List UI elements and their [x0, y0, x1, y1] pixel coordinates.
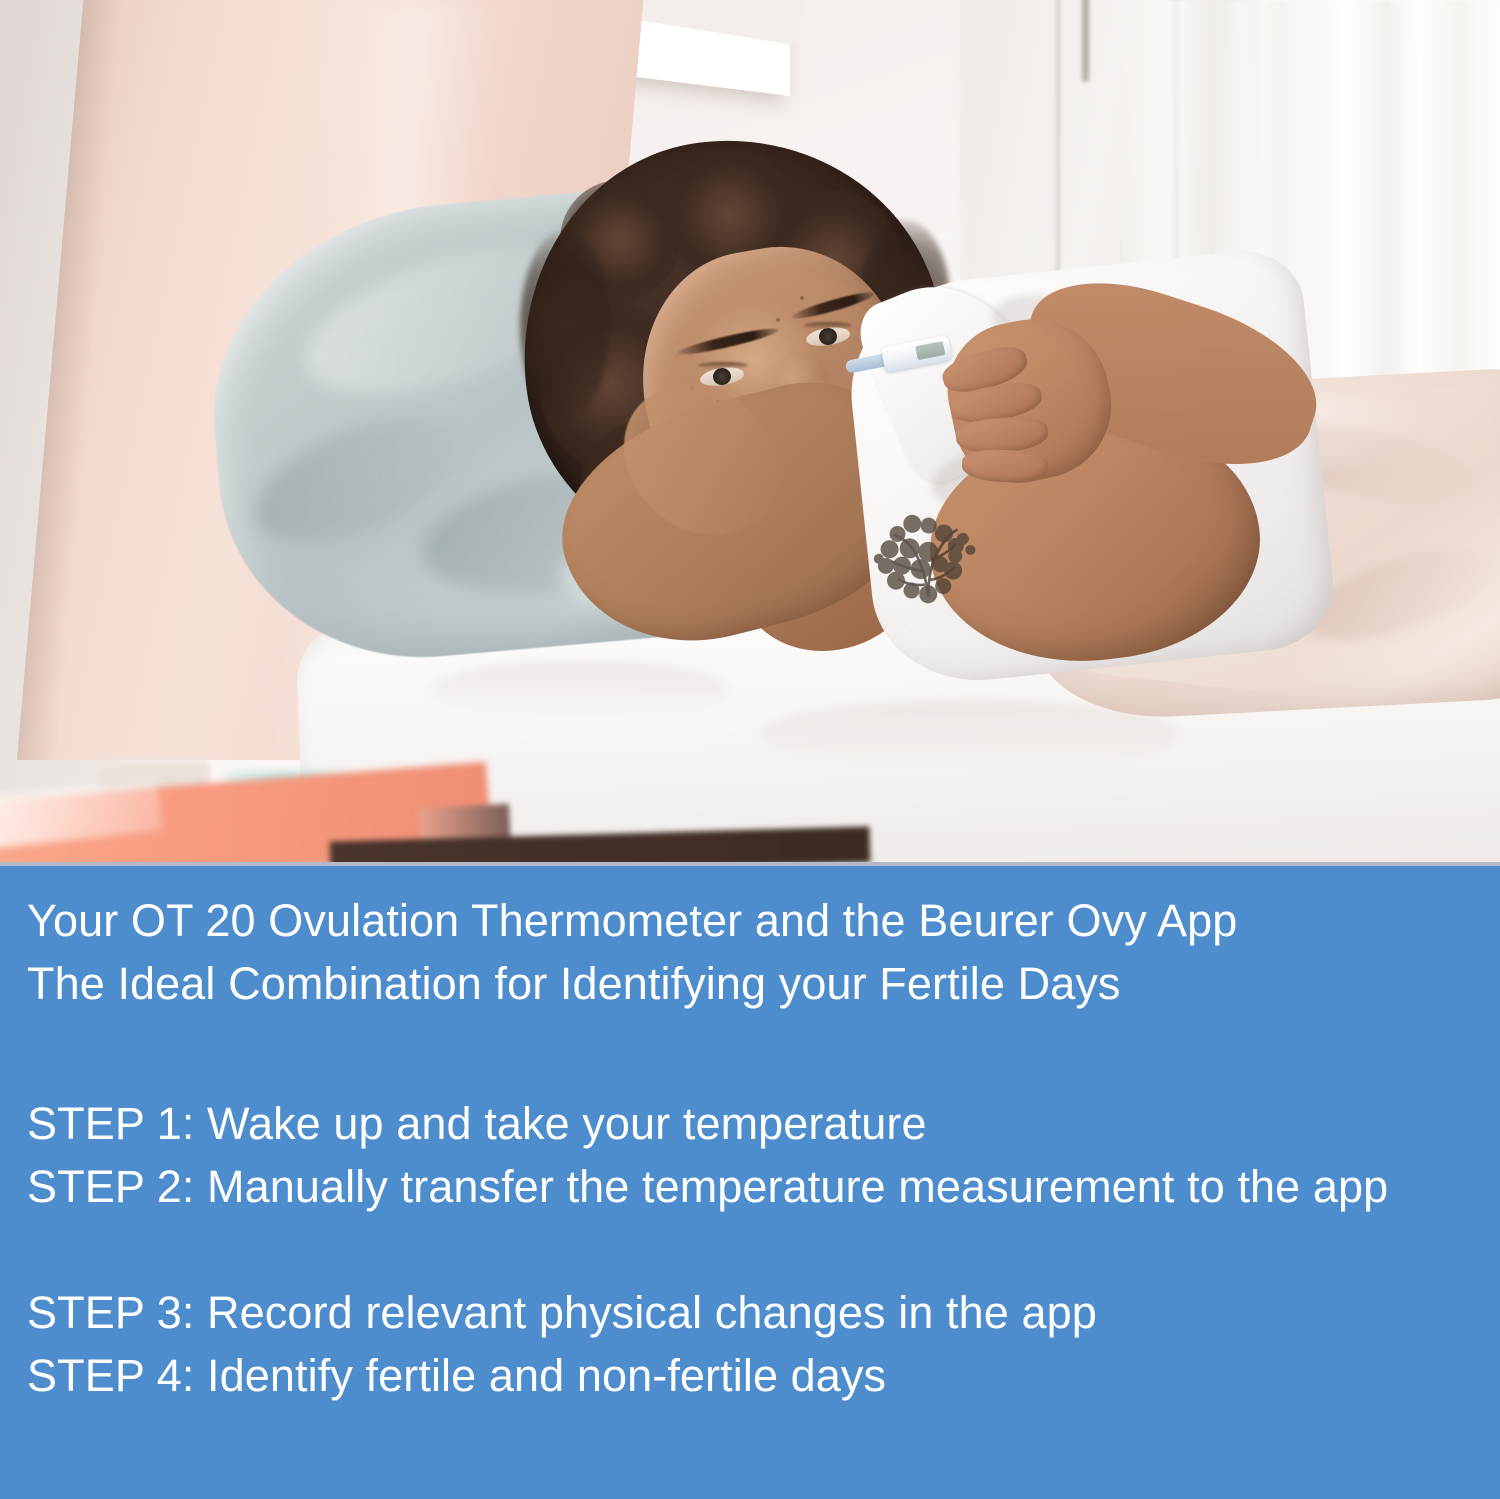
tree-tattoo — [854, 491, 1003, 636]
caption-title-line-2: The Ideal Combination for Identifying yo… — [27, 961, 1121, 1006]
caption-step-1: STEP 1: Wake up and take your temperatur… — [27, 1101, 927, 1146]
caption-step-2: STEP 2: Manually transfer the temperatur… — [27, 1164, 1467, 1209]
caption-step-3: STEP 3: Record relevant physical changes… — [27, 1290, 1097, 1335]
caption-title-line-1: Your OT 20 Ovulation Thermometer and the… — [27, 898, 1237, 943]
product-marketing-image: Your OT 20 Ovulation Thermometer and the… — [0, 0, 1500, 1499]
bedroom-photo — [0, 0, 1500, 862]
caption-panel: Your OT 20 Ovulation Thermometer and the… — [0, 866, 1500, 1499]
caption-step-4: STEP 4: Identify fertile and non-fertile… — [27, 1353, 886, 1398]
